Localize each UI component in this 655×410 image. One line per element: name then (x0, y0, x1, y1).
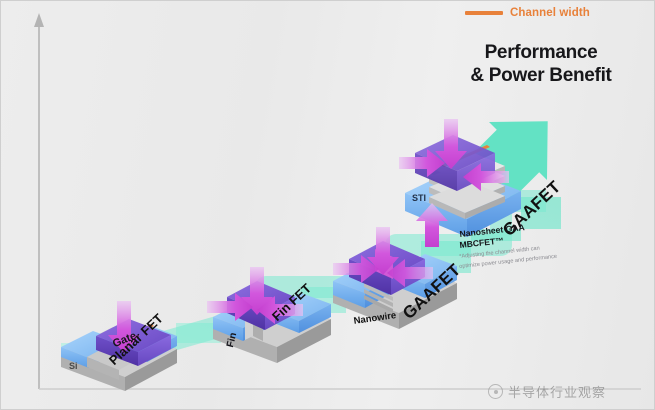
watermark: 半导体行业观察 (488, 382, 606, 401)
nanosheet-annotation: Nanosheet GAA MBCFET™ *Adjusting the cha… (459, 229, 557, 272)
line-swatch-icon (465, 11, 503, 15)
watermark-text: 半导体行业观察 (508, 382, 606, 401)
title-line-1: Performance (441, 41, 641, 64)
legend-label: Channel width (510, 7, 590, 19)
part-label-si: Si (69, 361, 78, 371)
legend: Channel width (465, 7, 590, 19)
title-line-2: & Power Benefit (441, 64, 641, 87)
infographic-canvas: Channel width Performance & Power Benefi… (0, 0, 655, 410)
page-title: Performance & Power Benefit (441, 41, 641, 87)
circle-logo-icon (488, 384, 503, 399)
part-label-sti: STI (412, 193, 426, 203)
